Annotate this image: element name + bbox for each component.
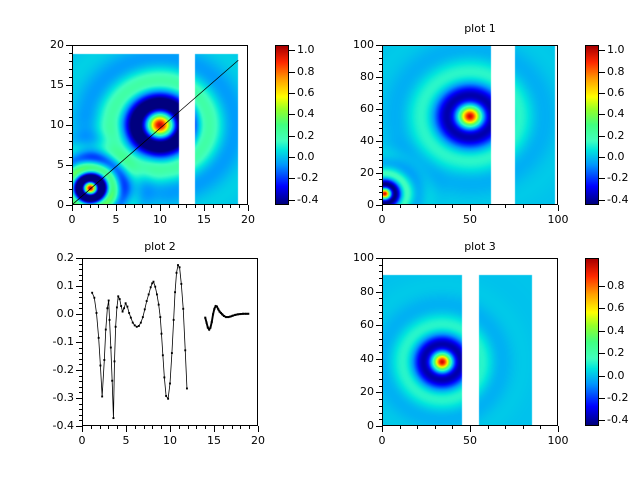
data-point-marker <box>122 311 124 313</box>
x-tick-minor <box>125 205 126 208</box>
x-tick-minor <box>222 205 223 208</box>
data-point-marker <box>179 266 181 268</box>
colorbar-tick-label: 0.4 <box>607 107 640 120</box>
colorbar-tick <box>599 136 605 137</box>
x-tick-label: 15 <box>194 434 234 447</box>
colorbar-tick <box>599 331 605 332</box>
colorbar-tick-label: 0.4 <box>607 324 640 337</box>
y-tick-label: 5 <box>20 158 64 171</box>
x-tick-minor <box>470 205 471 208</box>
x-tick-minor <box>452 205 453 208</box>
x-tick-minor <box>134 205 135 208</box>
y-tick-label: 20 <box>330 166 374 179</box>
y-tick-minor <box>69 101 72 102</box>
y-tick-label: 60 <box>330 318 374 331</box>
data-point-marker <box>208 329 210 331</box>
colorbar-tick <box>289 136 295 137</box>
axes-frame-bottom-left <box>82 258 258 426</box>
data-point-marker <box>163 376 165 378</box>
colorbar-tick <box>599 398 605 399</box>
y-tick-minor <box>69 117 72 118</box>
y-tick-minor <box>79 409 82 410</box>
axes-frame-bottom-right <box>382 258 558 426</box>
x-tick-minor <box>523 205 524 208</box>
y-tick-minor <box>379 167 382 168</box>
data-point-marker <box>99 365 101 367</box>
subplot-top-left: 0510152005101520 -0.4-0.20.00.20.40.60.8… <box>0 0 320 240</box>
axes-frame-top-right <box>382 45 558 205</box>
y-tick-minor <box>379 199 382 200</box>
y-tick-minor <box>379 419 382 420</box>
colorbar-tick-label: -0.2 <box>607 391 640 404</box>
data-point-marker <box>150 286 152 288</box>
y-tick-label: 100 <box>330 38 374 51</box>
data-point-marker <box>110 347 112 349</box>
y-tick-label: -0.2 <box>30 363 74 376</box>
y-tick-minor <box>79 370 82 371</box>
data-point-marker <box>207 327 209 329</box>
x-tick-minor <box>72 205 73 208</box>
colorbar-tick <box>599 286 605 287</box>
y-tick-minor <box>79 364 82 365</box>
data-point-marker <box>114 360 116 362</box>
x-tick-minor <box>91 426 92 429</box>
x-tick-label: 50 <box>450 434 490 447</box>
x-tick-minor <box>470 426 471 429</box>
data-point-marker <box>232 315 234 317</box>
data-point-marker <box>154 286 156 288</box>
y-tick-label: 40 <box>330 134 374 147</box>
x-tick-minor <box>558 426 559 429</box>
y-tick-minor <box>379 312 382 313</box>
data-point-marker <box>108 300 110 302</box>
data-point-marker <box>144 308 146 310</box>
y-tick-minor <box>79 392 82 393</box>
y-tick-minor <box>379 386 382 387</box>
y-tick-minor <box>79 415 82 416</box>
colorbar-top-right <box>585 45 599 205</box>
y-tick-label: 0.0 <box>30 307 74 320</box>
colorbar-tick <box>599 308 605 309</box>
x-tick-minor <box>205 426 206 429</box>
x-tick-minor <box>144 426 145 429</box>
x-tick-label: 20 <box>228 213 268 226</box>
y-tick-minor <box>79 308 82 309</box>
y-tick-minor <box>379 109 382 110</box>
y-tick-label: -0.4 <box>30 419 74 432</box>
x-tick-minor <box>417 205 418 208</box>
x-tick-minor <box>214 426 215 429</box>
data-point-marker <box>167 398 169 400</box>
y-tick-minor <box>79 297 82 298</box>
data-point-marker <box>159 316 161 318</box>
x-tick-label: 5 <box>96 213 136 226</box>
colorbar-tick <box>289 114 295 115</box>
y-tick-minor <box>69 157 72 158</box>
y-tick-minor <box>379 265 382 266</box>
figure-canvas: 0510152005101520 -0.4-0.20.00.20.40.60.8… <box>0 0 640 480</box>
data-point-marker <box>209 327 211 329</box>
x-tick-minor <box>223 426 224 429</box>
y-tick-minor <box>379 271 382 272</box>
data-point-marker <box>239 313 241 315</box>
data-point-marker <box>158 304 160 306</box>
x-tick-minor <box>249 426 250 429</box>
data-point-marker <box>111 380 113 382</box>
x-tick-minor <box>116 205 117 208</box>
y-tick-minor <box>379 345 382 346</box>
data-point-marker <box>115 326 117 328</box>
y-tick-minor <box>69 45 72 46</box>
x-tick-label: 10 <box>150 434 190 447</box>
data-point-marker <box>117 295 119 297</box>
x-tick-minor <box>81 205 82 208</box>
data-point-marker <box>206 322 208 324</box>
heatmap-image-bottom-right <box>383 259 557 425</box>
y-tick-minor <box>379 186 382 187</box>
data-point-marker <box>126 306 128 308</box>
y-tick-minor <box>379 83 382 84</box>
y-tick-minor <box>379 413 382 414</box>
y-tick-minor <box>69 61 72 62</box>
x-tick-minor <box>232 426 233 429</box>
x-tick-minor <box>82 426 83 429</box>
heatmap-image-top-right <box>383 46 557 204</box>
y-tick-minor <box>379 332 382 333</box>
x-tick-minor <box>117 426 118 429</box>
y-tick-minor <box>79 275 82 276</box>
x-tick-minor <box>142 205 143 208</box>
y-tick-label: 100 <box>330 251 374 264</box>
y-tick-minor <box>379 128 382 129</box>
y-tick-minor <box>379 399 382 400</box>
colorbar-tick-label: 0.8 <box>607 65 640 78</box>
y-tick-minor <box>79 269 82 270</box>
x-tick-minor <box>523 426 524 429</box>
y-tick-minor <box>69 189 72 190</box>
y-tick-minor <box>79 404 82 405</box>
data-point-marker <box>173 319 175 321</box>
x-tick-label: 0 <box>362 434 402 447</box>
y-tick-minor <box>79 348 82 349</box>
data-point-marker <box>130 317 132 319</box>
data-point-marker <box>128 312 130 314</box>
y-tick-minor <box>379 339 382 340</box>
x-tick-label: 50 <box>450 213 490 226</box>
y-tick-minor <box>69 181 72 182</box>
data-point-marker <box>217 308 219 310</box>
y-tick-minor <box>79 342 82 343</box>
data-point-marker <box>223 315 225 317</box>
y-tick-minor <box>69 165 72 166</box>
subplot-bottom-right: plot 3 050100020406080100 -0.4-0.20.00.2… <box>320 240 640 480</box>
x-tick-minor <box>382 205 383 208</box>
y-tick-minor <box>379 379 382 380</box>
y-tick-label: 60 <box>330 102 374 115</box>
y-tick-minor <box>79 387 82 388</box>
y-tick-minor <box>79 258 82 259</box>
colorbar-tick <box>599 50 605 51</box>
data-point-marker <box>227 316 229 318</box>
x-tick-minor <box>152 426 153 429</box>
colorbar-tick <box>599 376 605 377</box>
data-point-marker <box>229 316 231 318</box>
data-point-marker <box>161 333 163 335</box>
y-tick-minor <box>69 205 72 206</box>
y-tick-minor <box>379 366 382 367</box>
x-tick-minor <box>400 426 401 429</box>
data-point-marker <box>247 313 249 315</box>
x-tick-label: 0 <box>52 213 92 226</box>
y-tick-minor <box>379 51 382 52</box>
x-tick-minor <box>258 426 259 429</box>
x-tick-label: 0 <box>62 434 102 447</box>
x-tick-minor <box>179 426 180 429</box>
y-tick-label: 0.2 <box>30 251 74 264</box>
x-tick-minor <box>239 205 240 208</box>
x-tick-label: 100 <box>538 213 578 226</box>
data-point-marker <box>119 298 121 300</box>
y-tick-label: 10 <box>20 118 64 131</box>
y-tick-minor <box>79 336 82 337</box>
data-point-marker <box>216 306 218 308</box>
y-tick-minor <box>79 426 82 427</box>
y-tick-minor <box>69 69 72 70</box>
colorbar-tick <box>599 157 605 158</box>
y-tick-minor <box>379 160 382 161</box>
y-tick-minor <box>379 147 382 148</box>
x-tick-minor <box>169 205 170 208</box>
x-tick-minor <box>230 205 231 208</box>
data-point-marker <box>169 383 171 385</box>
subplot-top-right: plot 1 050100020406080100 -0.4-0.20.00.2… <box>320 0 640 240</box>
data-point-marker <box>113 417 115 419</box>
y-tick-minor <box>69 109 72 110</box>
y-tick-minor <box>379 292 382 293</box>
data-point-marker <box>98 337 100 339</box>
y-tick-minor <box>79 320 82 321</box>
y-tick-minor <box>79 381 82 382</box>
y-tick-label: 40 <box>330 352 374 365</box>
y-tick-minor <box>379 173 382 174</box>
x-tick-minor <box>417 426 418 429</box>
colorbar-tick <box>599 178 605 179</box>
colorbar-tick <box>599 114 605 115</box>
x-tick-label: 100 <box>538 434 578 447</box>
x-tick-minor <box>488 205 489 208</box>
x-tick-minor <box>400 205 401 208</box>
y-tick-minor <box>69 173 72 174</box>
y-tick-minor <box>379 392 382 393</box>
x-tick-label: 0 <box>362 213 402 226</box>
x-tick-minor <box>195 205 196 208</box>
y-tick-minor <box>379 372 382 373</box>
y-tick-minor <box>79 292 82 293</box>
y-tick-label: 0 <box>330 419 374 432</box>
y-tick-minor <box>379 77 382 78</box>
y-tick-minor <box>79 280 82 281</box>
y-tick-minor <box>379 359 382 360</box>
y-tick-minor <box>379 154 382 155</box>
y-tick-minor <box>379 278 382 279</box>
x-tick-minor <box>540 205 541 208</box>
data-point-marker <box>165 395 167 397</box>
data-point-marker <box>180 283 182 285</box>
colorbar-tick-label: -0.2 <box>607 171 640 184</box>
y-tick-minor <box>379 318 382 319</box>
y-tick-minor <box>379 205 382 206</box>
x-tick-minor <box>178 205 179 208</box>
colorbar-tick <box>599 200 605 201</box>
y-tick-minor <box>79 325 82 326</box>
x-tick-minor <box>382 426 383 429</box>
y-tick-minor <box>79 398 82 399</box>
x-tick-minor <box>505 205 506 208</box>
colorbar-tick <box>289 93 295 94</box>
x-tick-minor <box>558 205 559 208</box>
data-point-marker <box>153 281 155 283</box>
data-point-marker <box>132 322 134 324</box>
colorbar-tick-label: 0.6 <box>607 86 640 99</box>
colorbar-tick <box>599 353 605 354</box>
colorbar-tick-label: 0.0 <box>607 369 640 382</box>
y-tick-minor <box>379 115 382 116</box>
y-tick-minor <box>79 331 82 332</box>
data-point-marker <box>101 396 103 398</box>
data-point-marker <box>213 308 215 310</box>
colorbar-tick-label: 0.8 <box>607 279 640 292</box>
x-tick-label: 5 <box>106 434 146 447</box>
y-tick-label: 20 <box>20 38 64 51</box>
colorbar-tick-label: 0.2 <box>607 346 640 359</box>
x-tick-minor <box>188 426 189 429</box>
y-tick-minor <box>79 286 82 287</box>
data-point-marker <box>106 307 108 309</box>
x-tick-minor <box>170 426 171 429</box>
data-point-marker <box>212 313 214 315</box>
y-tick-minor <box>379 135 382 136</box>
y-tick-minor <box>69 149 72 150</box>
subplot-title-top-right: plot 1 <box>380 22 580 35</box>
x-tick-minor <box>240 426 241 429</box>
x-tick-label: 20 <box>238 434 278 447</box>
x-tick-minor <box>248 205 249 208</box>
x-tick-minor <box>452 426 453 429</box>
data-point-marker <box>109 319 111 321</box>
x-tick-minor <box>213 205 214 208</box>
colorbar-tick-label: -0.4 <box>607 193 640 206</box>
x-tick-label: 10 <box>140 213 180 226</box>
x-tick-minor <box>108 426 109 429</box>
data-point-marker <box>142 316 144 318</box>
data-point-marker <box>211 321 213 323</box>
y-tick-minor <box>379 141 382 142</box>
colorbar-tick <box>599 72 605 73</box>
line-path <box>92 265 187 418</box>
colorbar-tick-label: 1.0 <box>607 43 640 56</box>
y-tick-minor <box>379 90 382 91</box>
y-tick-minor <box>79 314 82 315</box>
colorbar-tick-label: -0.4 <box>607 413 640 426</box>
y-tick-label: 20 <box>330 385 374 398</box>
colorbar-tick-label: 0.0 <box>607 150 640 163</box>
y-tick-minor <box>379 406 382 407</box>
subplot-title-bottom-left: plot 2 <box>60 240 260 253</box>
colorbar-tick <box>599 93 605 94</box>
data-point-marker <box>103 359 105 361</box>
y-tick-minor <box>79 303 82 304</box>
line-series-plot <box>83 259 257 425</box>
x-tick-minor <box>100 426 101 429</box>
colorbar-tick <box>289 200 295 201</box>
data-point-marker <box>184 349 186 351</box>
y-tick-minor <box>379 96 382 97</box>
data-point-marker <box>116 306 118 308</box>
x-tick-minor <box>161 426 162 429</box>
x-tick-minor <box>505 426 506 429</box>
x-tick-minor <box>160 205 161 208</box>
data-point-marker <box>93 297 95 299</box>
data-point-marker <box>221 313 223 315</box>
x-tick-minor <box>435 426 436 429</box>
data-point-marker <box>186 388 188 390</box>
y-tick-minor <box>379 258 382 259</box>
colorbar-tick-label: 0.6 <box>607 301 640 314</box>
y-tick-minor <box>379 58 382 59</box>
y-tick-minor <box>79 376 82 377</box>
y-tick-minor <box>379 426 382 427</box>
y-tick-label: 0.1 <box>30 279 74 292</box>
y-tick-minor <box>379 325 382 326</box>
axes-frame-top-left <box>72 45 248 205</box>
data-point-marker <box>242 313 244 315</box>
data-point-marker <box>125 302 127 304</box>
y-tick-label: 0 <box>330 198 374 211</box>
data-point-marker <box>96 312 98 314</box>
data-point-marker <box>105 329 107 331</box>
y-tick-minor <box>79 359 82 360</box>
data-point-marker <box>234 314 236 316</box>
x-tick-minor <box>151 205 152 208</box>
y-tick-label: 15 <box>20 78 64 91</box>
data-point-marker <box>120 305 122 307</box>
x-tick-minor <box>126 426 127 429</box>
y-tick-minor <box>69 77 72 78</box>
y-tick-minor <box>69 141 72 142</box>
x-tick-minor <box>488 426 489 429</box>
x-tick-minor <box>435 205 436 208</box>
data-point-marker <box>123 307 125 309</box>
colorbar-tick <box>289 50 295 51</box>
x-tick-minor <box>204 205 205 208</box>
data-point-marker <box>146 300 148 302</box>
y-tick-label: -0.3 <box>30 391 74 404</box>
colorbar-tick <box>289 72 295 73</box>
x-tick-label: 15 <box>184 213 224 226</box>
y-tick-minor <box>379 103 382 104</box>
y-tick-minor <box>379 285 382 286</box>
x-tick-minor <box>98 205 99 208</box>
data-point-marker <box>225 316 227 318</box>
x-tick-minor <box>107 205 108 208</box>
y-tick-minor <box>69 125 72 126</box>
y-tick-label: 0 <box>20 198 64 211</box>
y-tick-minor <box>379 179 382 180</box>
y-tick-minor <box>79 264 82 265</box>
y-tick-minor <box>379 45 382 46</box>
y-tick-minor <box>379 64 382 65</box>
overlay-diagonal-line <box>73 46 247 204</box>
